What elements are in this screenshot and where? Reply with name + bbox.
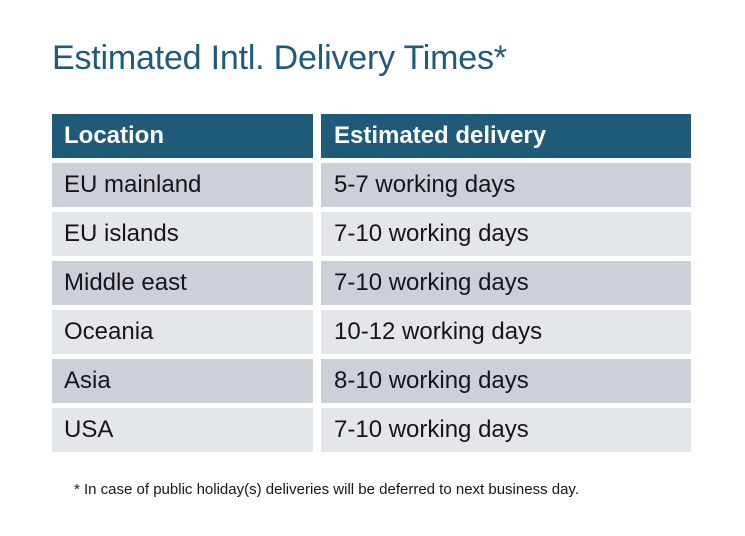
table-row: Oceania 10-12 working days xyxy=(52,310,691,354)
table-cell-location: EU islands xyxy=(52,212,313,256)
column-divider xyxy=(313,408,321,452)
table-row: EU mainland 5-7 working days xyxy=(52,163,691,207)
cell-location-label: Middle east xyxy=(64,269,187,297)
cell-location-label: USA xyxy=(64,416,113,444)
cell-delivery-label: 8-10 working days xyxy=(334,367,529,395)
cell-location-label: Asia xyxy=(64,367,111,395)
column-divider xyxy=(313,359,321,403)
table-row: EU islands 7-10 working days xyxy=(52,212,691,256)
table-header-row: Location Estimated delivery xyxy=(52,114,691,158)
cell-delivery-label: 7-10 working days xyxy=(334,220,529,248)
cell-location-label: EU mainland xyxy=(64,171,201,199)
table-cell-delivery: 7-10 working days xyxy=(321,212,691,256)
table-cell-delivery: 5-7 working days xyxy=(321,163,691,207)
table-cell-delivery: 7-10 working days xyxy=(321,408,691,452)
column-divider xyxy=(313,212,321,256)
table-cell-location: USA xyxy=(52,408,313,452)
table-cell-delivery: 8-10 working days xyxy=(321,359,691,403)
page-title: Estimated Intl. Delivery Times* xyxy=(52,36,507,80)
delivery-times-page: Estimated Intl. Delivery Times* Location… xyxy=(0,0,745,536)
table-cell-location: Asia xyxy=(52,359,313,403)
table-cell-location: EU mainland xyxy=(52,163,313,207)
table-row: Middle east 7-10 working days xyxy=(52,261,691,305)
cell-delivery-label: 10-12 working days xyxy=(334,318,542,346)
column-divider xyxy=(313,163,321,207)
footnote-text: * In case of public holiday(s) deliverie… xyxy=(74,480,579,500)
table-cell-location: Oceania xyxy=(52,310,313,354)
cell-delivery-label: 7-10 working days xyxy=(334,416,529,444)
column-header-delivery-label: Estimated delivery xyxy=(334,122,546,150)
table-cell-location: Middle east xyxy=(52,261,313,305)
column-divider xyxy=(313,310,321,354)
table-cell-delivery: 7-10 working days xyxy=(321,261,691,305)
delivery-times-table: Location Estimated delivery EU mainland … xyxy=(52,114,691,452)
table-cell-delivery: 10-12 working days xyxy=(321,310,691,354)
table-header-cell-delivery: Estimated delivery xyxy=(321,114,691,158)
table-row: Asia 8-10 working days xyxy=(52,359,691,403)
table-row: USA 7-10 working days xyxy=(52,408,691,452)
column-divider xyxy=(313,114,321,158)
cell-location-label: EU islands xyxy=(64,220,179,248)
cell-delivery-label: 5-7 working days xyxy=(334,171,515,199)
column-header-location-label: Location xyxy=(64,122,164,150)
column-divider xyxy=(313,261,321,305)
table-header-cell-location: Location xyxy=(52,114,313,158)
cell-location-label: Oceania xyxy=(64,318,153,346)
cell-delivery-label: 7-10 working days xyxy=(334,269,529,297)
